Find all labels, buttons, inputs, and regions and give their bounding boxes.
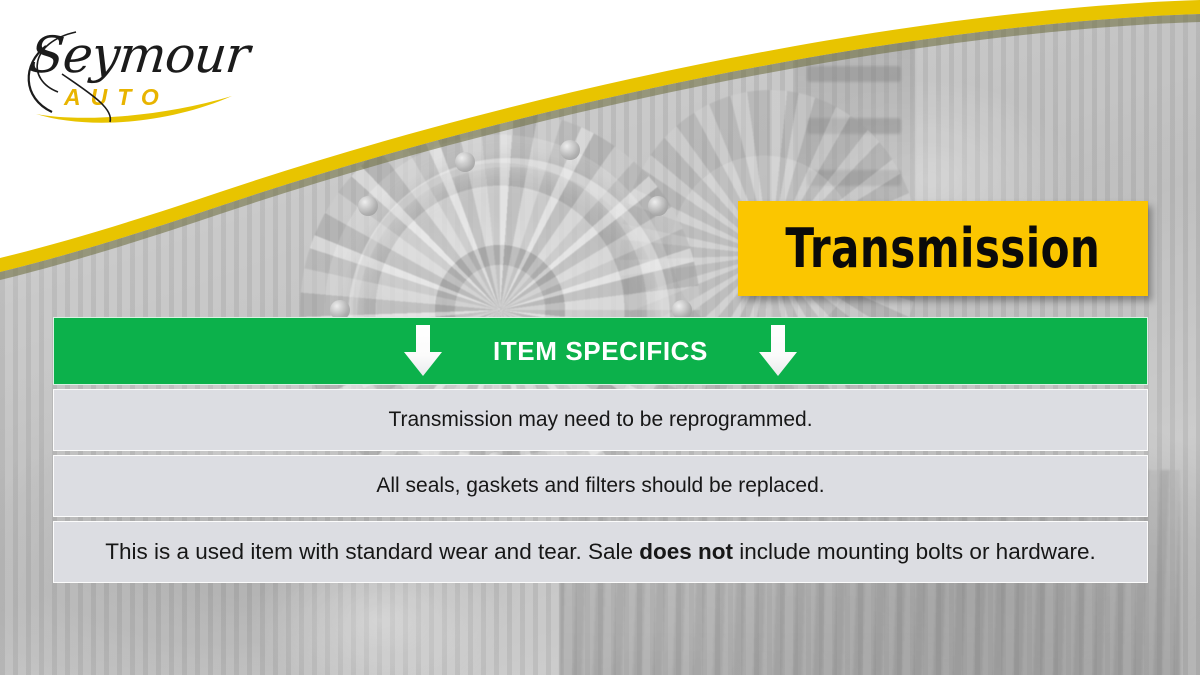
spec-row-text: All seals, gaskets and filters should be… [376,474,824,498]
spec-row: All seals, gaskets and filters should be… [53,455,1148,517]
spec-row-text-rich: This is a used item with standard wear a… [105,539,1095,565]
title-plate: Transmission [738,201,1148,296]
spec-row-suffix: include mounting bolts or hardware. [733,539,1096,564]
slide-canvas: Seymour AUTO Transmission [0,0,1200,675]
item-specifics-header: ITEM SPECIFICS [53,317,1148,385]
spec-row-prefix: This is a used item with standard wear a… [105,539,639,564]
spec-row: Transmission may need to be reprogrammed… [53,389,1148,451]
spec-row-emphasis: does not [639,539,733,564]
item-specifics-title: ITEM SPECIFICS [493,336,708,367]
logo-swoosh-icon [18,22,268,132]
item-specifics-panel: ITEM SPECIFICS Transmission may need to … [53,317,1148,583]
page-title: Transmission [786,222,1101,276]
brand-logo: Seymour AUTO [18,22,268,132]
arrow-down-icon [403,325,443,377]
arrow-down-icon [758,325,798,377]
spec-row: This is a used item with standard wear a… [53,521,1148,583]
spec-row-text: Transmission may need to be reprogrammed… [388,408,812,432]
